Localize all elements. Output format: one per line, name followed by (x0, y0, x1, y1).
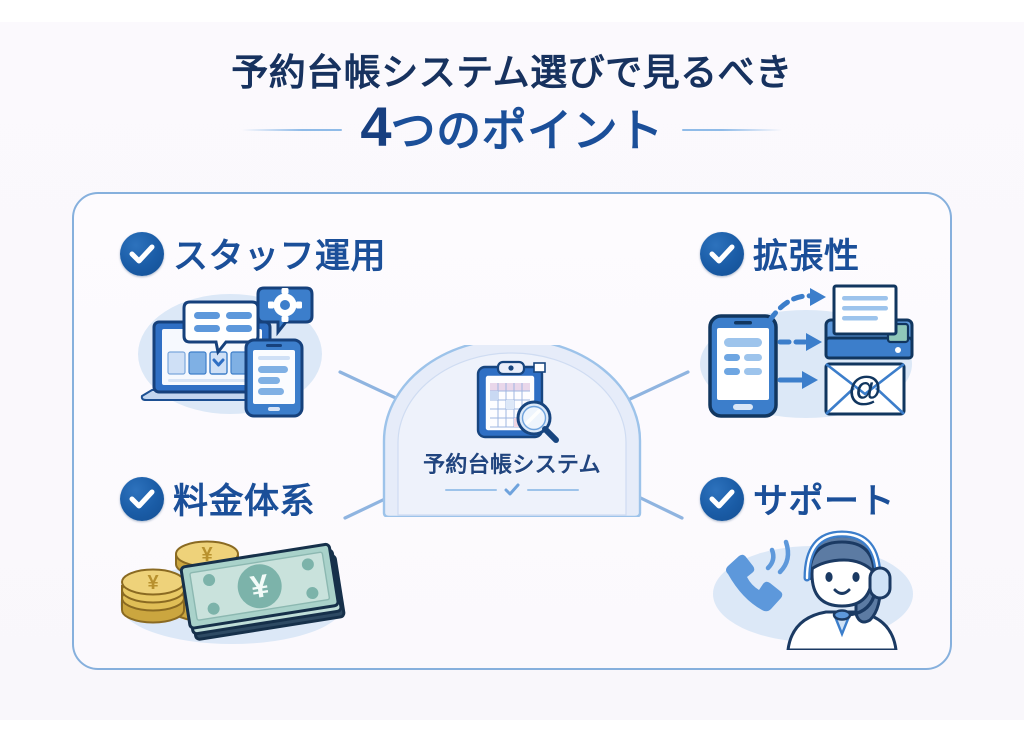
point-label-support-text: サポート (753, 473, 895, 524)
point-label-staff: スタッフ運用 (120, 228, 386, 279)
title-rule-left (242, 129, 342, 131)
hub-shape (378, 345, 646, 517)
illustration-pricing: ¥ ¥ ¥ (108, 522, 356, 650)
check-circle-icon (700, 477, 744, 521)
point-label-expandability-text: 拡張性 (753, 228, 860, 279)
point-label-pricing-text: 料金体系 (173, 473, 315, 524)
page-title-line1: 予約台帳システム選びで見るべき (0, 52, 1024, 95)
svg-text:¥: ¥ (147, 572, 159, 594)
check-circle-icon (120, 232, 164, 276)
title-block: 予約台帳システム選びで見るべき 4つのポイント (0, 52, 1024, 155)
illustration-staff-operation (122, 278, 344, 420)
point-label-pricing: 料金体系 (120, 473, 315, 524)
infographic-canvas: 予約台帳システム選びで見るべき 4つのポイント (0, 0, 1024, 742)
point-label-expandability: 拡張性 (700, 228, 860, 279)
svg-text:@: @ (848, 370, 881, 408)
page-title-line2-rest: つのポイント (391, 105, 664, 156)
smartphone-pos-printer-email-arrows-icon: @ (692, 278, 920, 420)
page-title-line2: 4つのポイント (360, 94, 663, 159)
point-label-staff-text: スタッフ運用 (173, 228, 386, 279)
center-hub: 予約台帳システム (378, 345, 646, 517)
check-circle-icon (120, 477, 164, 521)
title-rule-right (682, 129, 782, 131)
illustration-support (706, 522, 920, 650)
point-label-support: サポート (700, 473, 895, 524)
laptop-tablet-gear-chat-icon (122, 278, 344, 420)
illustration-expandability: @ (692, 278, 920, 420)
headset-operator-phone-icon (706, 522, 920, 650)
point-count-number: 4 (360, 95, 390, 158)
yen-coins-banknotes-icon: ¥ ¥ ¥ (108, 522, 356, 650)
check-circle-icon (700, 232, 744, 276)
page-title-line2-wrap: 4つのポイント (0, 99, 1024, 155)
